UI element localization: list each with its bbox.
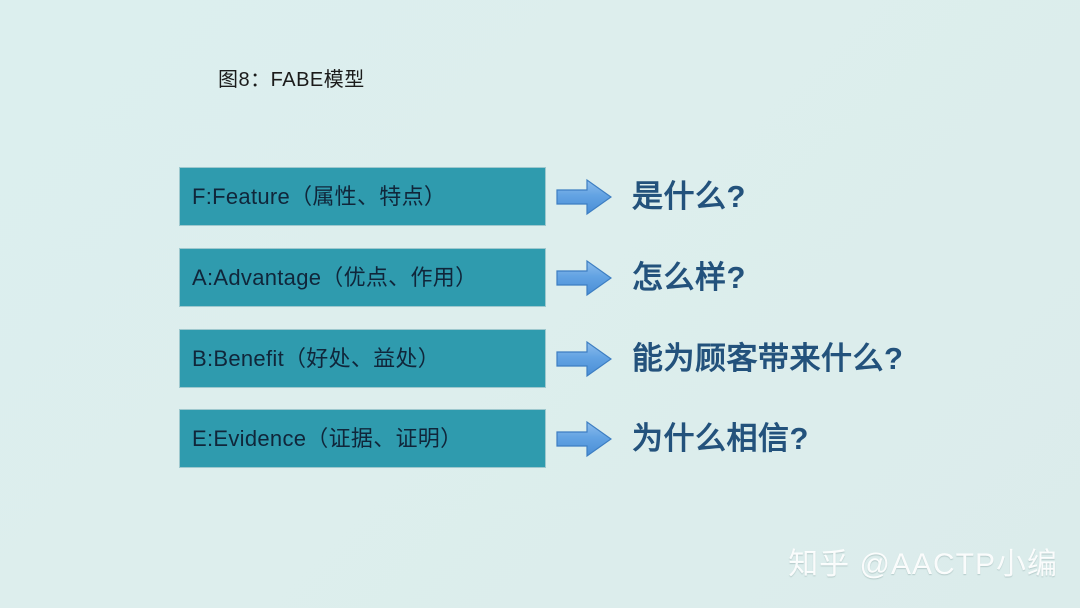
fabe-question-text: 怎么样? <box>632 260 746 296</box>
fabe-term-box: E:Evidence（证据、证明） <box>180 410 545 467</box>
fabe-row-list: F:Feature（属性、特点） 是什么? <box>0 0 1080 608</box>
right-arrow-icon <box>556 168 624 225</box>
fabe-model-slide: 图8：FABE模型 F:Feature（属性、特点） <box>0 0 1080 608</box>
fabe-question-text: 是什么? <box>632 179 746 215</box>
fabe-term-label: E:Evidence（证据、证明） <box>192 426 462 452</box>
fabe-term-label: A:Advantage（优点、作用） <box>192 265 477 291</box>
right-arrow-icon <box>556 330 624 387</box>
fabe-term-box: A:Advantage（优点、作用） <box>180 249 545 306</box>
right-arrow-icon <box>556 410 624 467</box>
fabe-row: B:Benefit（好处、益处） 能为顾客带来什么? <box>180 330 903 387</box>
fabe-row: F:Feature（属性、特点） 是什么? <box>180 168 746 225</box>
fabe-question-text: 为什么相信? <box>632 421 809 457</box>
fabe-row: A:Advantage（优点、作用） 怎么样? <box>180 249 746 306</box>
zhihu-watermark: 知乎 @AACTP小编 <box>788 546 1058 584</box>
fabe-question-text: 能为顾客带来什么? <box>632 341 903 377</box>
fabe-term-box: B:Benefit（好处、益处） <box>180 330 545 387</box>
fabe-term-label: F:Feature（属性、特点） <box>192 184 446 210</box>
fabe-term-label: B:Benefit（好处、益处） <box>192 346 440 372</box>
right-arrow-icon <box>556 249 624 306</box>
fabe-row: E:Evidence（证据、证明） 为什么相信? <box>180 410 809 467</box>
fabe-term-box: F:Feature（属性、特点） <box>180 168 545 225</box>
